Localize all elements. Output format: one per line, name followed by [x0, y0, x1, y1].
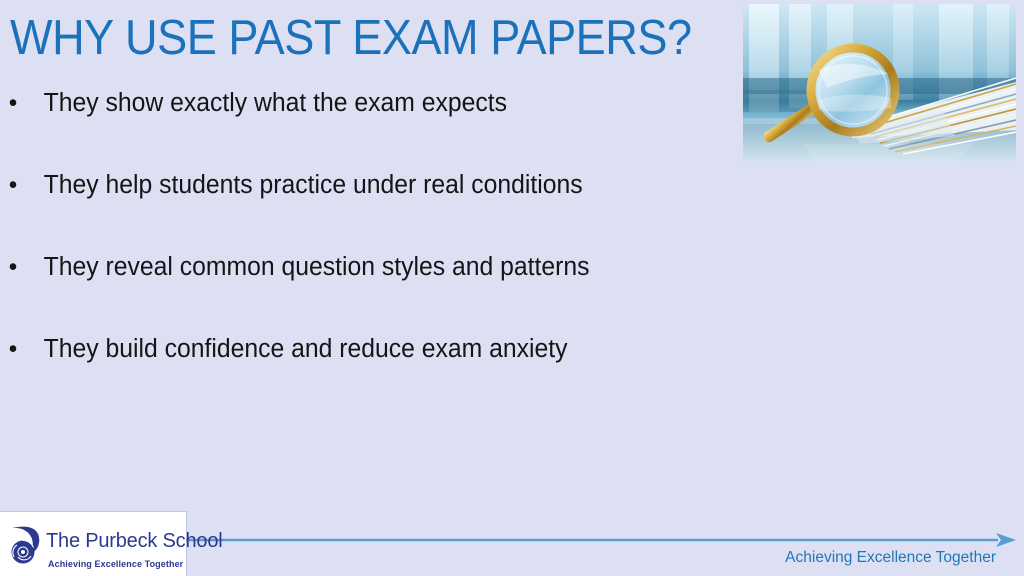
bullet-text: They show exactly what the exam expects — [44, 89, 507, 117]
bullet-text: They build confidence and reduce exam an… — [44, 335, 568, 363]
bullet-text: They reveal common question styles and p… — [44, 253, 590, 281]
list-item: • They show exactly what the exam expect… — [0, 78, 718, 160]
list-item: • They help students practice under real… — [0, 160, 718, 242]
school-logo-name: The Purbeck School — [46, 530, 223, 553]
school-logo-tagline: Achieving Excellence Together — [48, 559, 183, 569]
bullet-marker-icon: • — [9, 242, 18, 292]
footer-arrow-divider — [186, 533, 1024, 547]
bullet-marker-icon: • — [9, 78, 18, 128]
footer-tagline: Achieving Excellence Together — [785, 549, 996, 567]
magnifying-glass-papers-illustration — [743, 4, 1016, 161]
bullet-marker-icon: • — [9, 324, 18, 374]
list-item: • They reveal common question styles and… — [0, 242, 718, 324]
slide-canvas: WHY USE PAST EXAM PAPERS? — [0, 0, 1024, 576]
list-item: • They build confidence and reduce exam … — [0, 324, 718, 406]
page-title: WHY USE PAST EXAM PAPERS? — [10, 8, 682, 70]
bullet-list: • They show exactly what the exam expect… — [0, 78, 740, 406]
nautilus-shell-icon — [6, 522, 46, 566]
school-logo: The Purbeck School Achieving Excellence … — [0, 512, 186, 576]
exam-papers-photo — [743, 4, 1016, 161]
right-arrow-icon — [186, 533, 1024, 547]
bullet-marker-icon: • — [9, 160, 18, 210]
bullet-text: They help students practice under real c… — [44, 171, 583, 199]
